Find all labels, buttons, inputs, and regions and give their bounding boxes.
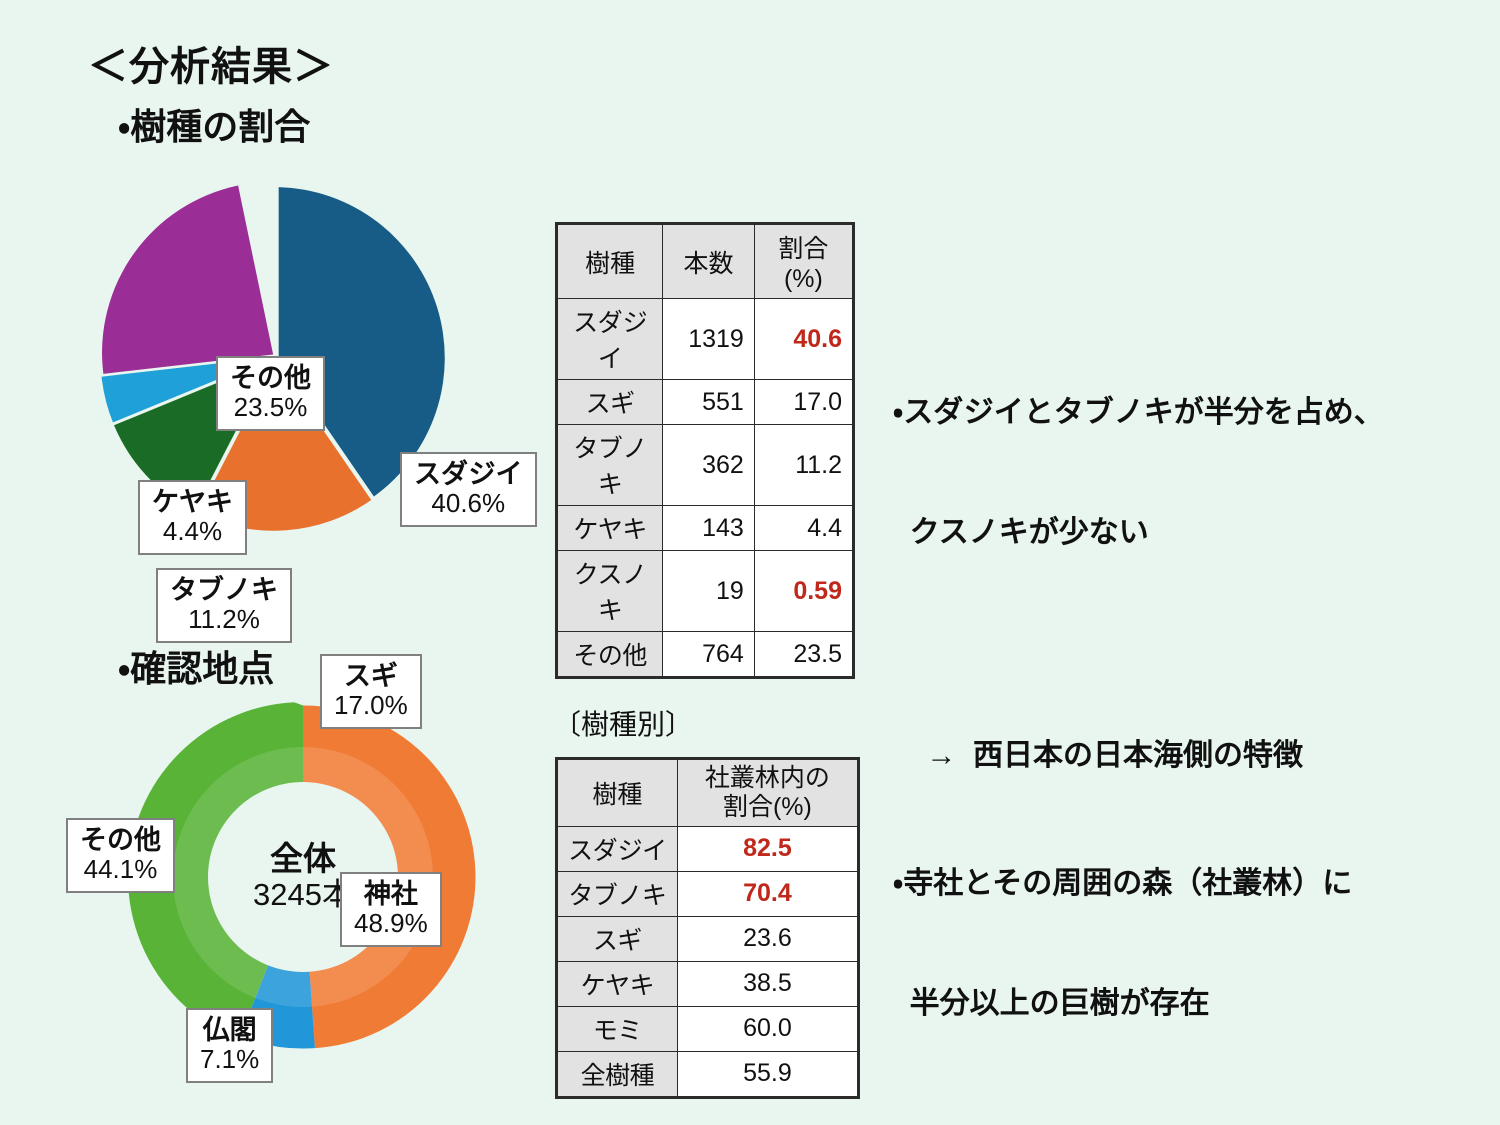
th-count: 本数 <box>663 224 755 299</box>
pie-label-tabunoki-name: タブノキ <box>170 575 278 605</box>
table-row: スダジイ 82.5 <box>557 826 859 871</box>
cell-species: スギ <box>557 380 663 425</box>
pie-label-sudajii: スダジイ 40.6% <box>400 452 537 527</box>
slide-root: ＜分析結果＞ ・樹種の割合 <box>0 0 1500 1125</box>
page-title: ＜分析結果＞ <box>88 34 334 92</box>
cell-ratio: 11.2 <box>754 425 853 506</box>
pie-slice-sonota <box>102 186 273 374</box>
donut-label-bukkaku-name: 仏閣 <box>200 1015 259 1045</box>
cell-species: スダジイ <box>557 826 678 871</box>
cell-ratio: 0.59 <box>754 551 853 632</box>
notes-locations: ・寺社とその周囲の森（社叢林）に 半分以上の巨樹が存在 ・スダジイとタブノキは特… <box>893 703 1444 1125</box>
cell-species: タブノキ <box>557 871 678 916</box>
cell-count: 362 <box>663 425 755 506</box>
cell-species: スダジイ <box>557 299 663 380</box>
donut-label-jinja-name: 神社 <box>354 879 428 909</box>
pie-label-sonota-name: その他 <box>230 363 311 393</box>
species-table: 樹種 本数 割合(%) スダジイ 1319 40.6 スギ 551 17.0 タ… <box>555 222 855 679</box>
cell-count: 764 <box>663 632 755 678</box>
pie-label-keyaki: ケヤキ 4.4% <box>138 480 247 555</box>
note-line: ・スダジイとタブノキが半分を占め、 <box>893 393 1384 433</box>
table-row: スギ 551 17.0 <box>557 380 854 425</box>
pie-label-sonota-value: 23.5% <box>230 393 311 422</box>
pie-label-sudajii-name: スダジイ <box>414 459 523 489</box>
pie-label-tabunoki-value: 11.2% <box>170 605 278 634</box>
pie-label-keyaki-name: ケヤキ <box>152 487 233 517</box>
donut-label-jinja-value: 48.9% <box>354 909 428 938</box>
table-row: その他 764 23.5 <box>557 632 854 678</box>
donut-label-sonota-value: 44.1% <box>80 855 161 884</box>
donut-label-sonota-name: その他 <box>80 825 161 855</box>
donut-label-jinja: 神社 48.9% <box>340 872 442 947</box>
note-line: 半分以上の巨樹が存在 <box>893 984 1444 1024</box>
cell-ratio: 4.4 <box>754 506 853 551</box>
donut-center-title: 全体 <box>270 841 336 878</box>
table-row: タブノキ 362 11.2 <box>557 425 854 506</box>
cell-ratio: 60.0 <box>677 1006 858 1051</box>
table-row: スダジイ 1319 40.6 <box>557 299 854 380</box>
pie-label-tabunoki: タブノキ 11.2% <box>156 568 292 643</box>
table-header-row: 樹種 社叢林内の 割合(%) <box>557 759 859 827</box>
pie-label-sudajii-value: 40.6% <box>414 489 523 518</box>
th-ratio: 割合(%) <box>754 224 853 299</box>
shrine-table-caption: 〔樹種別〕 <box>553 703 693 743</box>
th-species: 樹種 <box>557 224 663 299</box>
th-shrine-ratio-line1: 社叢林内の <box>705 764 830 792</box>
cell-species: モミ <box>557 1006 678 1051</box>
table-row: モミ 60.0 <box>557 1006 859 1051</box>
shrine-ratio-table: 樹種 社叢林内の 割合(%) スダジイ 82.5 タブノキ 70.4 スギ 23… <box>555 757 860 1099</box>
cell-ratio: 23.5 <box>754 632 853 678</box>
section-heading-species: ・樹種の割合 <box>118 98 310 150</box>
cell-ratio: 40.6 <box>754 299 853 380</box>
pie-label-sugi: スギ 17.0% <box>320 654 422 729</box>
table-row: 全樹種 55.9 <box>557 1051 859 1097</box>
cell-ratio: 82.5 <box>677 826 858 871</box>
pie-label-sonota: その他 23.5% <box>216 356 325 431</box>
donut-label-bukkaku-value: 7.1% <box>200 1045 259 1074</box>
cell-count: 1319 <box>663 299 755 380</box>
donut-label-bukkaku: 仏閣 7.1% <box>186 1008 273 1083</box>
cell-ratio: 17.0 <box>754 380 853 425</box>
cell-ratio: 70.4 <box>677 871 858 916</box>
cell-count: 551 <box>663 380 755 425</box>
table-row: スギ 23.6 <box>557 916 859 961</box>
note-line: クスノキが少ない <box>893 513 1384 553</box>
spacer <box>893 634 1384 656</box>
table-row: ケヤキ 143 4.4 <box>557 506 854 551</box>
table-row: ケヤキ 38.5 <box>557 961 859 1006</box>
section-heading-locations: ・確認地点 <box>118 640 274 692</box>
cell-ratio: 55.9 <box>677 1051 858 1097</box>
cell-species: ケヤキ <box>557 961 678 1006</box>
table-row: タブノキ 70.4 <box>557 871 859 916</box>
cell-species: スギ <box>557 916 678 961</box>
table-row: クスノキ 19 0.59 <box>557 551 854 632</box>
note-block-1: ・寺社とその周囲の森（社叢林）に 半分以上の巨樹が存在 <box>893 783 1444 1105</box>
pie-label-sugi-value: 17.0% <box>334 691 408 720</box>
cell-species: タブノキ <box>557 425 663 506</box>
pie-label-keyaki-value: 4.4% <box>152 517 233 546</box>
th-shrine-ratio-line2: 割合(%) <box>723 793 812 821</box>
cell-count: 143 <box>663 506 755 551</box>
pie-label-sugi-name: スギ <box>334 661 408 691</box>
cell-species: ケヤキ <box>557 506 663 551</box>
table-header-row: 樹種 本数 割合(%) <box>557 224 854 299</box>
th-species: 樹種 <box>557 759 678 827</box>
cell-ratio: 38.5 <box>677 961 858 1006</box>
donut-label-sonota: その他 44.1% <box>66 818 175 893</box>
cell-species: クスノキ <box>557 551 663 632</box>
note-line: ・寺社とその周囲の森（社叢林）に <box>893 864 1444 904</box>
cell-ratio: 23.6 <box>677 916 858 961</box>
cell-species: 全樹種 <box>557 1051 678 1097</box>
th-shrine-ratio: 社叢林内の 割合(%) <box>677 759 858 827</box>
donut-center-value: 3245本 <box>253 878 353 913</box>
species-pie-chart: スダジイ 40.6% スギ 17.0% タブノキ 11.2% ケヤキ 4.4% … <box>68 178 508 538</box>
cell-count: 19 <box>663 551 755 632</box>
cell-species: その他 <box>557 632 663 678</box>
